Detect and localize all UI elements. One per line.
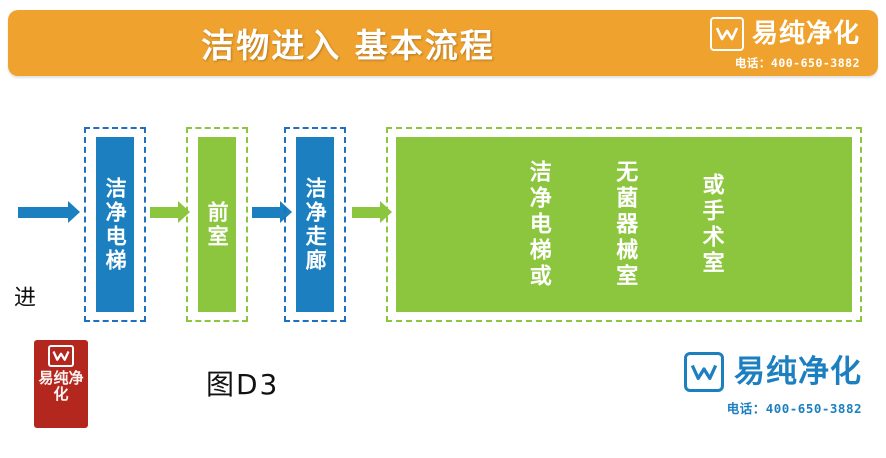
- header-banner: 洁物进入 基本流程 易纯净化 电话：400-650-3882: [8, 10, 878, 76]
- entry-label: 进: [14, 280, 36, 312]
- step-1-box: 洁净电梯: [96, 137, 134, 312]
- destination-column-1: 无菌器械室: [611, 160, 637, 290]
- footer-brand-name: 易纯净化: [734, 357, 862, 388]
- footer-brand-phone: 电话：400-650-3882: [727, 398, 862, 417]
- header-brand-name: 易纯净化: [752, 21, 860, 47]
- w-mark-icon: [710, 17, 744, 51]
- seal-text: 易纯净化: [34, 371, 88, 403]
- header-brand-row: 易纯净化: [710, 17, 860, 51]
- figure-label: 图D3: [206, 363, 279, 403]
- w-mark-icon: [684, 352, 724, 392]
- step-2-box: 前室: [198, 137, 236, 312]
- footer-brand: 易纯净化 电话：400-650-3882: [684, 352, 862, 417]
- flow-arrow-1: [150, 201, 190, 223]
- seal-w-mark-icon: [48, 345, 74, 367]
- header-brand-phone: 电话：400-650-3882: [735, 55, 860, 71]
- flow-diagram: 进 洁净电梯 前室 洁净走廊 洁净电梯或 无菌器械室 或手术室: [0, 110, 886, 325]
- destination-column-0: 洁净电梯或: [524, 160, 550, 290]
- flow-arrow-0: [18, 201, 80, 223]
- destination-column-2: 或手术室: [697, 173, 723, 277]
- red-seal-icon: 易纯净化: [34, 340, 88, 428]
- step-3-box: 洁净走廊: [296, 137, 334, 312]
- header-brand: 易纯净化 电话：400-650-3882: [710, 19, 860, 69]
- footer-brand-row: 易纯净化: [684, 352, 862, 392]
- destination-box: 洁净电梯或 无菌器械室 或手术室: [396, 137, 852, 312]
